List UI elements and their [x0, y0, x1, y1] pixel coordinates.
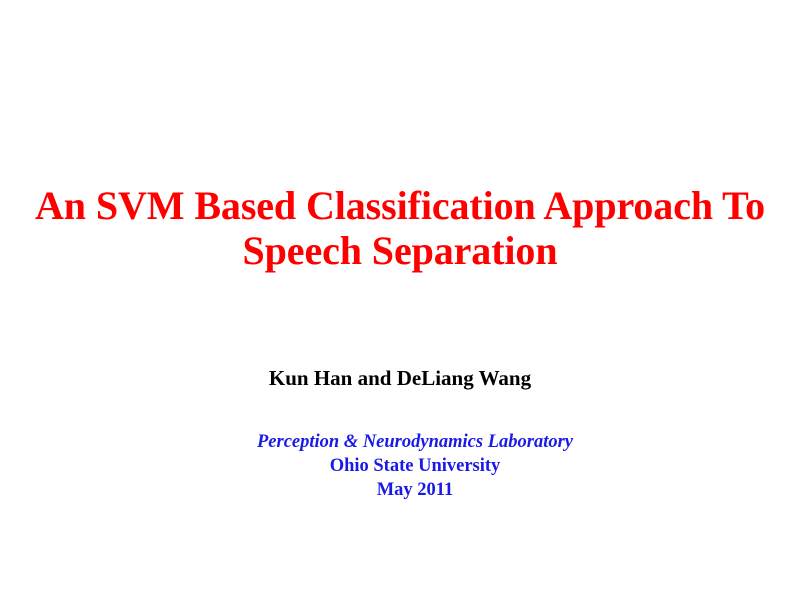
- presentation-date: May 2011: [15, 478, 800, 502]
- authors-line: Kun Han and DeLiang Wang: [0, 366, 800, 390]
- affiliation: Perception & Neurodynamics Laboratory Oh…: [15, 430, 800, 502]
- title-line-2: Speech Separation: [0, 228, 800, 273]
- slide-title: An SVM Based Classification Approach To …: [0, 183, 800, 273]
- title-line-1: An SVM Based Classification Approach To: [0, 183, 800, 228]
- affiliation-lab-name: Perception & Neurodynamics Laboratory: [15, 430, 800, 454]
- affiliation-university: Ohio State University: [15, 454, 800, 478]
- authors: Kun Han and DeLiang Wang: [0, 366, 800, 390]
- title-slide: An SVM Based Classification Approach To …: [0, 0, 800, 599]
